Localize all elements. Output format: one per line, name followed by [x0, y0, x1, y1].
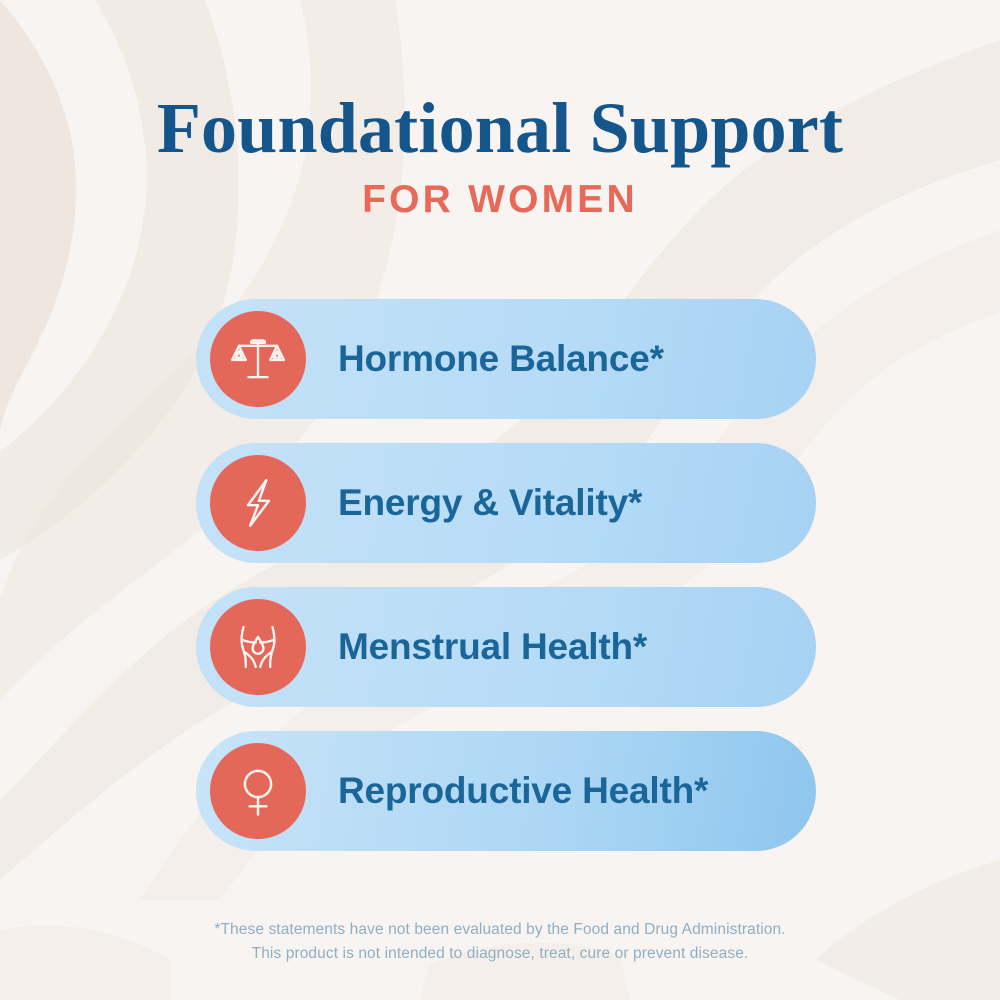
benefit-label: Energy & Vitality* [338, 482, 642, 524]
disclaimer-line-1: *These statements have not been evaluate… [0, 918, 1000, 942]
lightning-bolt-icon [210, 455, 306, 551]
female-venus-symbol-icon [210, 743, 306, 839]
disclaimer-line-2: This product is not intended to diagnose… [0, 942, 1000, 966]
balance-scale-icon [210, 311, 306, 407]
page-title: Foundational Support [0, 92, 1000, 164]
benefit-item-menstrual-health[interactable]: Menstrual Health* [196, 587, 816, 707]
benefit-label: Menstrual Health* [338, 626, 647, 668]
page-subtitle: FOR WOMEN [0, 178, 1000, 222]
benefit-label: Hormone Balance* [338, 338, 664, 380]
benefit-item-energy-vitality[interactable]: Energy & Vitality* [196, 443, 816, 563]
benefit-item-hormone-balance[interactable]: Hormone Balance* [196, 299, 816, 419]
benefit-label: Reproductive Health* [338, 770, 708, 812]
disclaimer: *These statements have not been evaluate… [0, 918, 1000, 966]
infographic-canvas: Foundational Support FOR WOMEN Hormone B… [0, 0, 1000, 1000]
hips-droplet-icon [210, 599, 306, 695]
header: Foundational Support FOR WOMEN [0, 0, 1000, 222]
benefit-list: Hormone Balance* Energy & Vitality* [196, 299, 816, 875]
benefit-item-reproductive-health[interactable]: Reproductive Health* [196, 731, 816, 851]
